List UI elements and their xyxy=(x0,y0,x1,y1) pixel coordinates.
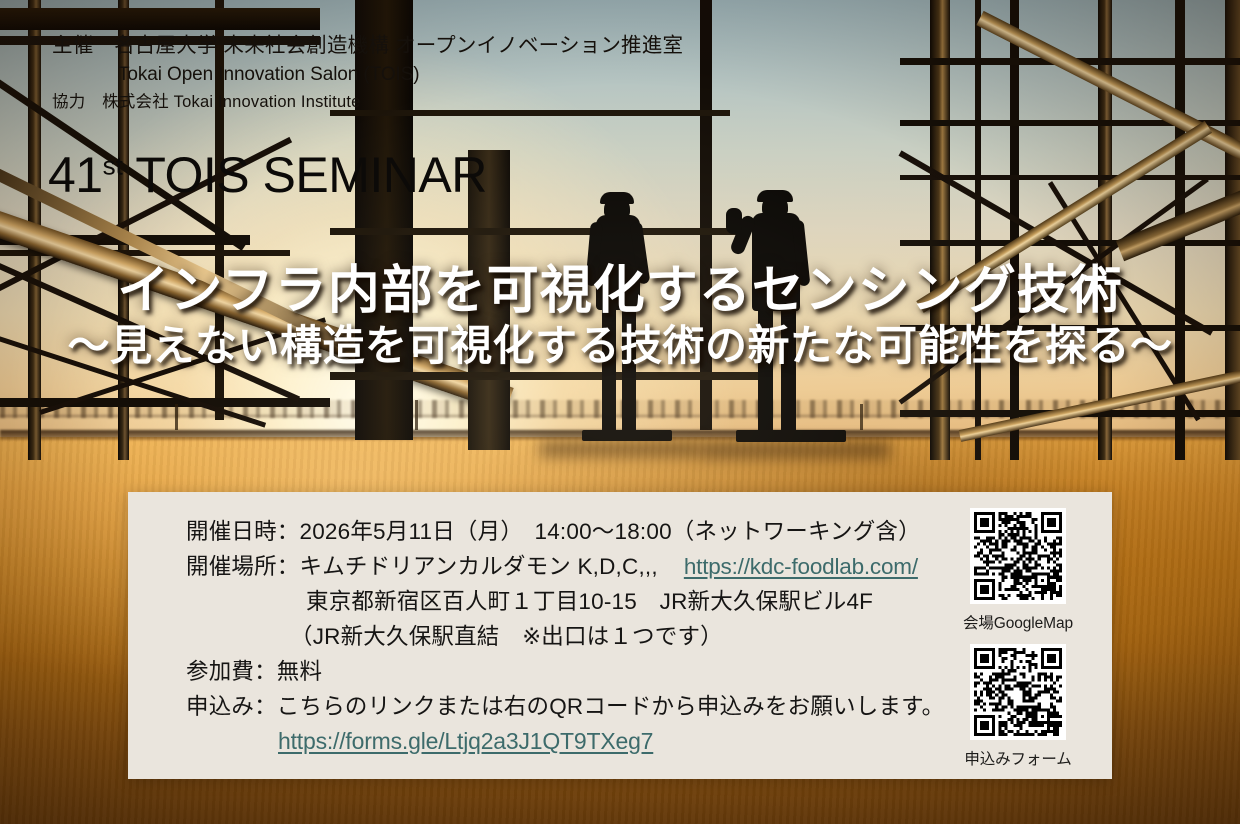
horizon-pole xyxy=(415,400,418,430)
event-apply-line: 申込み：こちらのリンクまたは右のQRコードから申込みをお願いします。 xyxy=(186,689,916,724)
venue-googlemap-qr[interactable] xyxy=(974,512,1062,600)
cooperation-line: 協力 株式会社 Tokai Innovation Institute xyxy=(52,90,812,115)
horizon-pole xyxy=(860,404,863,430)
venue-qr-block[interactable]: 会場GoogleMap xyxy=(948,508,1088,633)
organizer-block: 主催 名古屋大学 未来社会創造機構 オープンイノベーション推進室 Tokai O… xyxy=(52,30,812,115)
event-venue-line: 開催場所：キムチドリアンカルダモン K,D,C,,,https://kdc-fo… xyxy=(186,549,916,584)
worker-platform xyxy=(582,430,672,441)
event-info-panel: 開催日時：2026年5月11日（月） 14:00〜18:00（ネットワーキング含… xyxy=(128,492,1112,779)
application-form-qr[interactable] xyxy=(974,648,1062,736)
application-qr-box xyxy=(970,644,1066,740)
host-line: 主催 名古屋大学 未来社会創造機構 オープンイノベーション推進室 xyxy=(52,30,812,61)
seminar-heading: 41st TOIS SEMINAR xyxy=(48,146,487,204)
application-form-link[interactable]: https://forms.gle/Ltjq2a3J1QT9TXeg7 xyxy=(278,728,653,754)
scaffold-beam xyxy=(900,240,1240,246)
scaffold-beam xyxy=(1010,0,1019,460)
salon-line: Tokai Open Innovation Salon (TOIS) xyxy=(52,61,812,90)
event-fee-line: 参加費：無料 xyxy=(186,654,916,689)
scaffold-beam xyxy=(1225,0,1240,460)
application-qr-label: 申込みフォーム xyxy=(948,747,1088,769)
seminar-number: 41 xyxy=(48,147,103,203)
seminar-poster: 主催 名古屋大学 未来社会創造機構 オープンイノベーション推進室 Tokai O… xyxy=(0,0,1240,824)
scaffold-beam xyxy=(930,0,950,460)
worker-platform xyxy=(736,430,846,442)
venue-label: 開催場所：キムチドリアンカルダモン K,D,C,,, xyxy=(186,554,658,579)
event-info-text: 開催日時：2026年5月11日（月） 14:00〜18:00（ネットワーキング含… xyxy=(186,514,916,759)
horizon-pole xyxy=(175,404,178,430)
worker-helmet-left xyxy=(600,192,634,204)
scaffold-beam xyxy=(330,228,750,235)
scaffold-beam xyxy=(330,372,760,380)
event-date-line: 開催日時：2026年5月11日（月） 14:00〜18:00（ネットワーキング含… xyxy=(186,514,916,549)
venue-qr-label: 会場GoogleMap xyxy=(948,611,1088,633)
venue-qr-box xyxy=(970,508,1066,604)
worker-helmet-right xyxy=(757,190,793,202)
worker-shadow xyxy=(700,441,890,459)
application-qr-block[interactable]: 申込みフォーム xyxy=(948,644,1088,769)
worker-raised-hand xyxy=(726,208,742,234)
scaffold-beam xyxy=(0,8,320,30)
venue-website-link[interactable]: https://kdc-foodlab.com/ xyxy=(684,554,918,579)
event-access-line: （JR新大久保駅直結 ※出口は１つです） xyxy=(186,619,916,654)
scaffold-beam xyxy=(975,0,981,460)
seminar-label: TOIS SEMINAR xyxy=(123,147,487,203)
worker-shadow xyxy=(540,441,700,457)
apply-link-row: https://forms.gle/Ltjq2a3J1QT9TXeg7 xyxy=(186,724,916,759)
scaffold-beam xyxy=(1098,0,1112,460)
event-address-line: 東京都新宿区百人町１丁目10-15 JR新大久保駅ビル4F xyxy=(186,584,916,619)
seminar-ordinal: st xyxy=(103,150,123,180)
page-subtitle: 〜見えない構造を可視化する技術の新たな可能性を探る〜 xyxy=(0,312,1240,373)
